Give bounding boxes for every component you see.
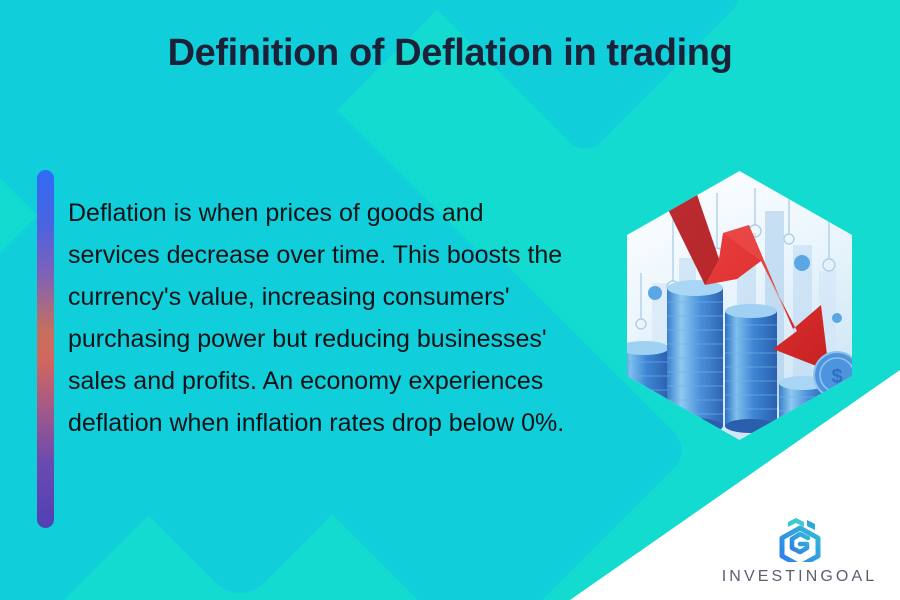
watermark-shape — [58, 0, 482, 177]
definition-body-text: Deflation is when prices of goods and se… — [68, 192, 578, 444]
investingoal-logo-mark — [774, 518, 826, 562]
gradient-accent-bar — [37, 170, 54, 528]
infographic-canvas: Definition of Deflation in trading Defla… — [0, 0, 900, 600]
investingoal-logo[interactable]: INVESTINGOAL — [712, 518, 887, 586]
page-title: Definition of Deflation in trading — [0, 32, 900, 75]
svg-text:$: $ — [843, 404, 855, 429]
watermark-shape — [422, 0, 747, 158]
investingoal-wordmark: INVESTINGOAL — [712, 568, 887, 586]
svg-text:$: $ — [831, 366, 842, 388]
dollar-sign-coins: $ $ — [814, 352, 874, 440]
deflation-chart-illustration: $ $ — [597, 163, 882, 448]
